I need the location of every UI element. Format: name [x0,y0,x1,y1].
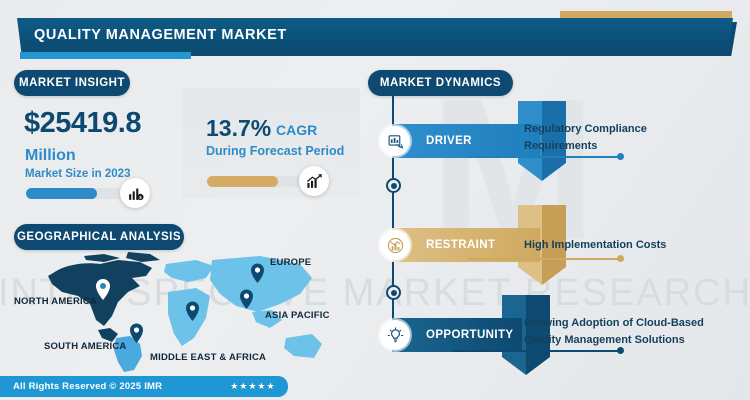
map-region-africa [168,288,210,346]
cagr-progress-bar [207,176,312,187]
map-label-europe: EUROPE [270,257,311,268]
driver-description: Regulatory Compliance Requirements [524,121,647,155]
restraint-description: High Implementation Costs [524,237,666,254]
driver-description-line1: Regulatory Compliance [524,121,647,138]
map-region-oceania [284,334,322,358]
timeline-node-1 [386,178,401,193]
opportunity-description-line1: Growing Adoption of Cloud-Based [524,315,704,332]
driver-connector-dot [617,153,624,160]
restraint-connector-dot [617,255,624,262]
market-size-progress-fill [26,188,97,199]
page-title: QUALITY MANAGEMENT MARKET [17,27,287,43]
driver-bar: DRIVER [392,124,540,158]
market-size-subtitle: Market Size in 2023 [25,168,130,180]
map-region-europe [164,260,214,282]
map-label-south-america: SOUTH AMERICA [44,341,126,352]
map-label-north-america: NORTH AMERICA [14,296,97,307]
footer-bar: All Rights Reserved © 2025 IMR ★★★★★ [0,376,288,397]
opportunity-connector-line [452,350,620,352]
restraint-label: RESTRAINT [426,228,495,262]
market-size-unit: Million [25,147,76,165]
restraint-connector-line [468,258,620,260]
map-label-asia-pacific: ASIA PACIFIC [265,310,330,321]
cagr-subtitle: During Forecast Period [206,144,344,158]
restraint-bar: RESTRAINT [392,228,540,262]
section-pill-market-dynamics: MARKET DYNAMICS [368,70,513,96]
cagr-progress-fill [207,176,278,187]
opportunity-connector-dot [617,347,624,354]
infographic-canvas: M INTROSPECTIVE MARKET RESEARCH QUALITY … [0,0,750,400]
section-pill-market-insight: MARKET INSIGHT [14,70,130,96]
driver-connector-line [468,156,620,158]
cagr-value: 13.7% [206,115,271,142]
growth-chart-icon [299,166,329,196]
opportunity-description-line2: Quality Management Solutions [524,332,704,349]
driver-description-line2: Requirements [524,138,647,155]
lightbulb-icon [380,320,410,350]
timeline-node-2 [386,285,401,300]
opportunity-label: OPPORTUNITY [426,318,513,352]
document-chart-icon [380,126,410,156]
rating-stars: ★★★★★ [230,381,275,392]
header-gold-accent [560,11,732,18]
market-size-value: $25419.8 [24,107,141,140]
copyright-text: All Rights Reserved © 2025 IMR [0,381,162,392]
bar-chart-dollar-icon: $ [120,178,150,208]
driver-label: DRIVER [426,124,472,158]
opportunity-description: Growing Adoption of Cloud-Based Quality … [524,315,704,349]
cagr-label: CAGR [276,122,317,138]
opportunity-bar: OPPORTUNITY [392,318,522,352]
restraint-description-line1: High Implementation Costs [524,237,666,254]
declining-bar-chart-icon [380,230,410,260]
map-label-middle-east-africa: MIDDLE EAST & AFRICA [150,352,266,363]
header-banner: QUALITY MANAGEMENT MARKET [17,18,733,52]
header-underbar [20,52,191,59]
